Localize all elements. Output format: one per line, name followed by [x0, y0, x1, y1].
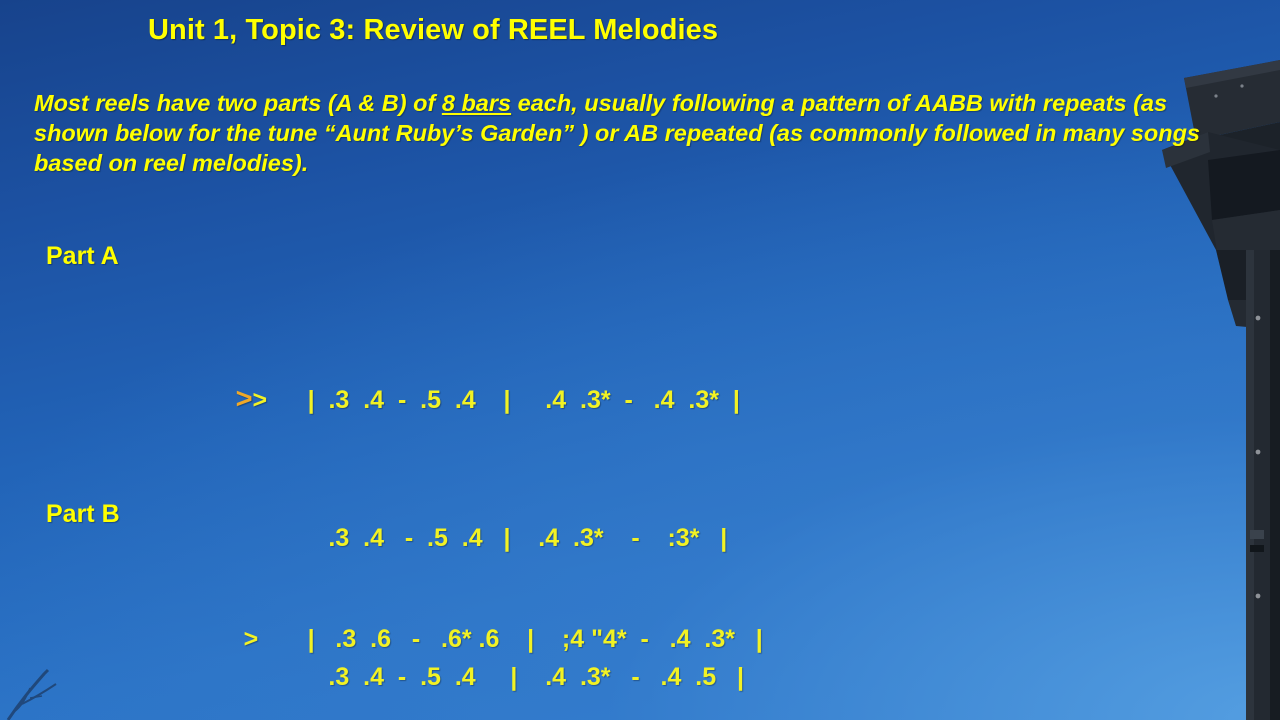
notation-line: >>| .3 .4 - .5 .4 | .4 .3* - .4 .3* |: [180, 321, 768, 373]
bare-branch-photo: [0, 640, 110, 720]
accent-chevron-right-icon: >: [236, 383, 253, 415]
notation-bars: | .3 .6 - .6* .6 | ;4 "4* - .4 .3* |: [308, 613, 763, 665]
part-b-notation: >| .3 .6 - .6* .6 | ;4 "4* - .4 .3* | .3…: [180, 474, 794, 720]
slide-canvas: Unit 1, Topic 3: Review of REEL Melodies…: [0, 0, 1280, 720]
chevron-right-icon: >: [253, 386, 268, 414]
slide-title: Unit 1, Topic 3: Review of REEL Melodies: [148, 14, 718, 47]
part-b-label: Part B: [46, 500, 120, 529]
intro-underlined-8-bars: 8 bars: [442, 90, 511, 116]
notation-line: >| .3 .6 - .6* .6 | ;4 "4* - .4 .3* |: [180, 561, 794, 613]
intro-paragraph: Most reels have two parts (A & B) of 8 b…: [34, 88, 1214, 178]
part-a-label: Part A: [46, 242, 119, 271]
repeat-open-marker-group: >>: [236, 373, 308, 426]
chevron-right-icon: >: [244, 625, 259, 653]
intro-text-before: Most reels have two parts (A & B) of: [34, 90, 442, 116]
notation-bars: | .3 .4 - .5 .4 | .4 .3* - .4 .3* |: [308, 374, 740, 426]
repeat-open-marker-group: >: [236, 613, 308, 665]
notation-line: .3 .6 - .6* .6 | :7* - :7* |: [180, 700, 794, 720]
